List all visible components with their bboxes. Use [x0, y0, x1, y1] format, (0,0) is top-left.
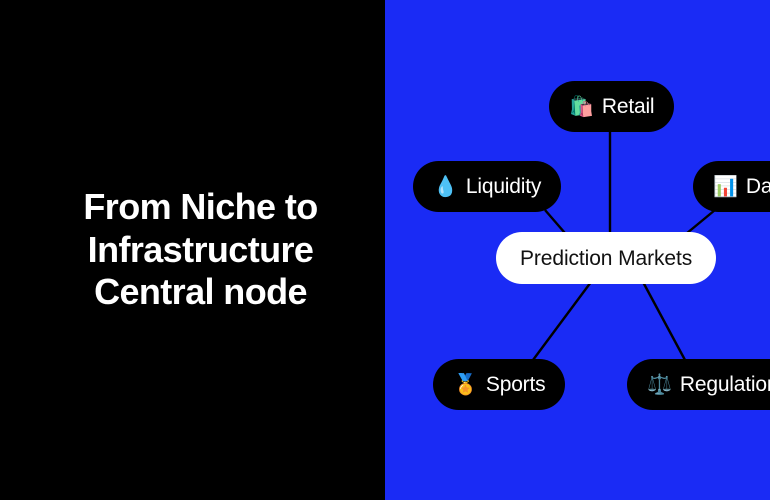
page-title: From Niche to Infrastructure Central nod… [0, 186, 385, 313]
mindmap-node-liquidity[interactable]: 💧 Liquidity [413, 161, 561, 212]
shopping-bags-icon: 🛍️ [569, 97, 594, 117]
mindmap-node-label: Regulation [680, 374, 770, 395]
mindmap-node-label: Data [746, 176, 770, 197]
bar-chart-icon: 📊 [713, 177, 738, 197]
mindmap-node-label: Liquidity [466, 176, 541, 197]
sports-medal-icon: 🏅 [453, 375, 478, 395]
mindmap-center-label: Prediction Markets [520, 248, 692, 269]
mindmap-node-sports[interactable]: 🏅 Sports [433, 359, 565, 410]
slide-canvas: From Niche to Infrastructure Central nod… [0, 0, 770, 500]
mindmap-node-data[interactable]: 📊 Data [693, 161, 770, 212]
edge-center-to-regulation [643, 282, 685, 360]
left-title-panel: From Niche to Infrastructure Central nod… [0, 0, 385, 500]
mindmap-node-regulation[interactable]: ⚖️ Regulation [627, 359, 770, 410]
mindmap-node-retail[interactable]: 🛍️ Retail [549, 81, 674, 132]
balance-scale-icon: ⚖️ [647, 375, 672, 395]
droplet-icon: 💧 [433, 177, 458, 197]
mindmap-center-node[interactable]: Prediction Markets [496, 232, 716, 284]
mindmap-node-label: Retail [602, 96, 655, 117]
mindmap-node-label: Sports [486, 374, 546, 395]
edge-center-to-sports [533, 282, 591, 360]
mindmap-panel: 🛍️ Retail 💧 Liquidity 📊 Data 🏅 Sports ⚖️… [385, 0, 770, 500]
